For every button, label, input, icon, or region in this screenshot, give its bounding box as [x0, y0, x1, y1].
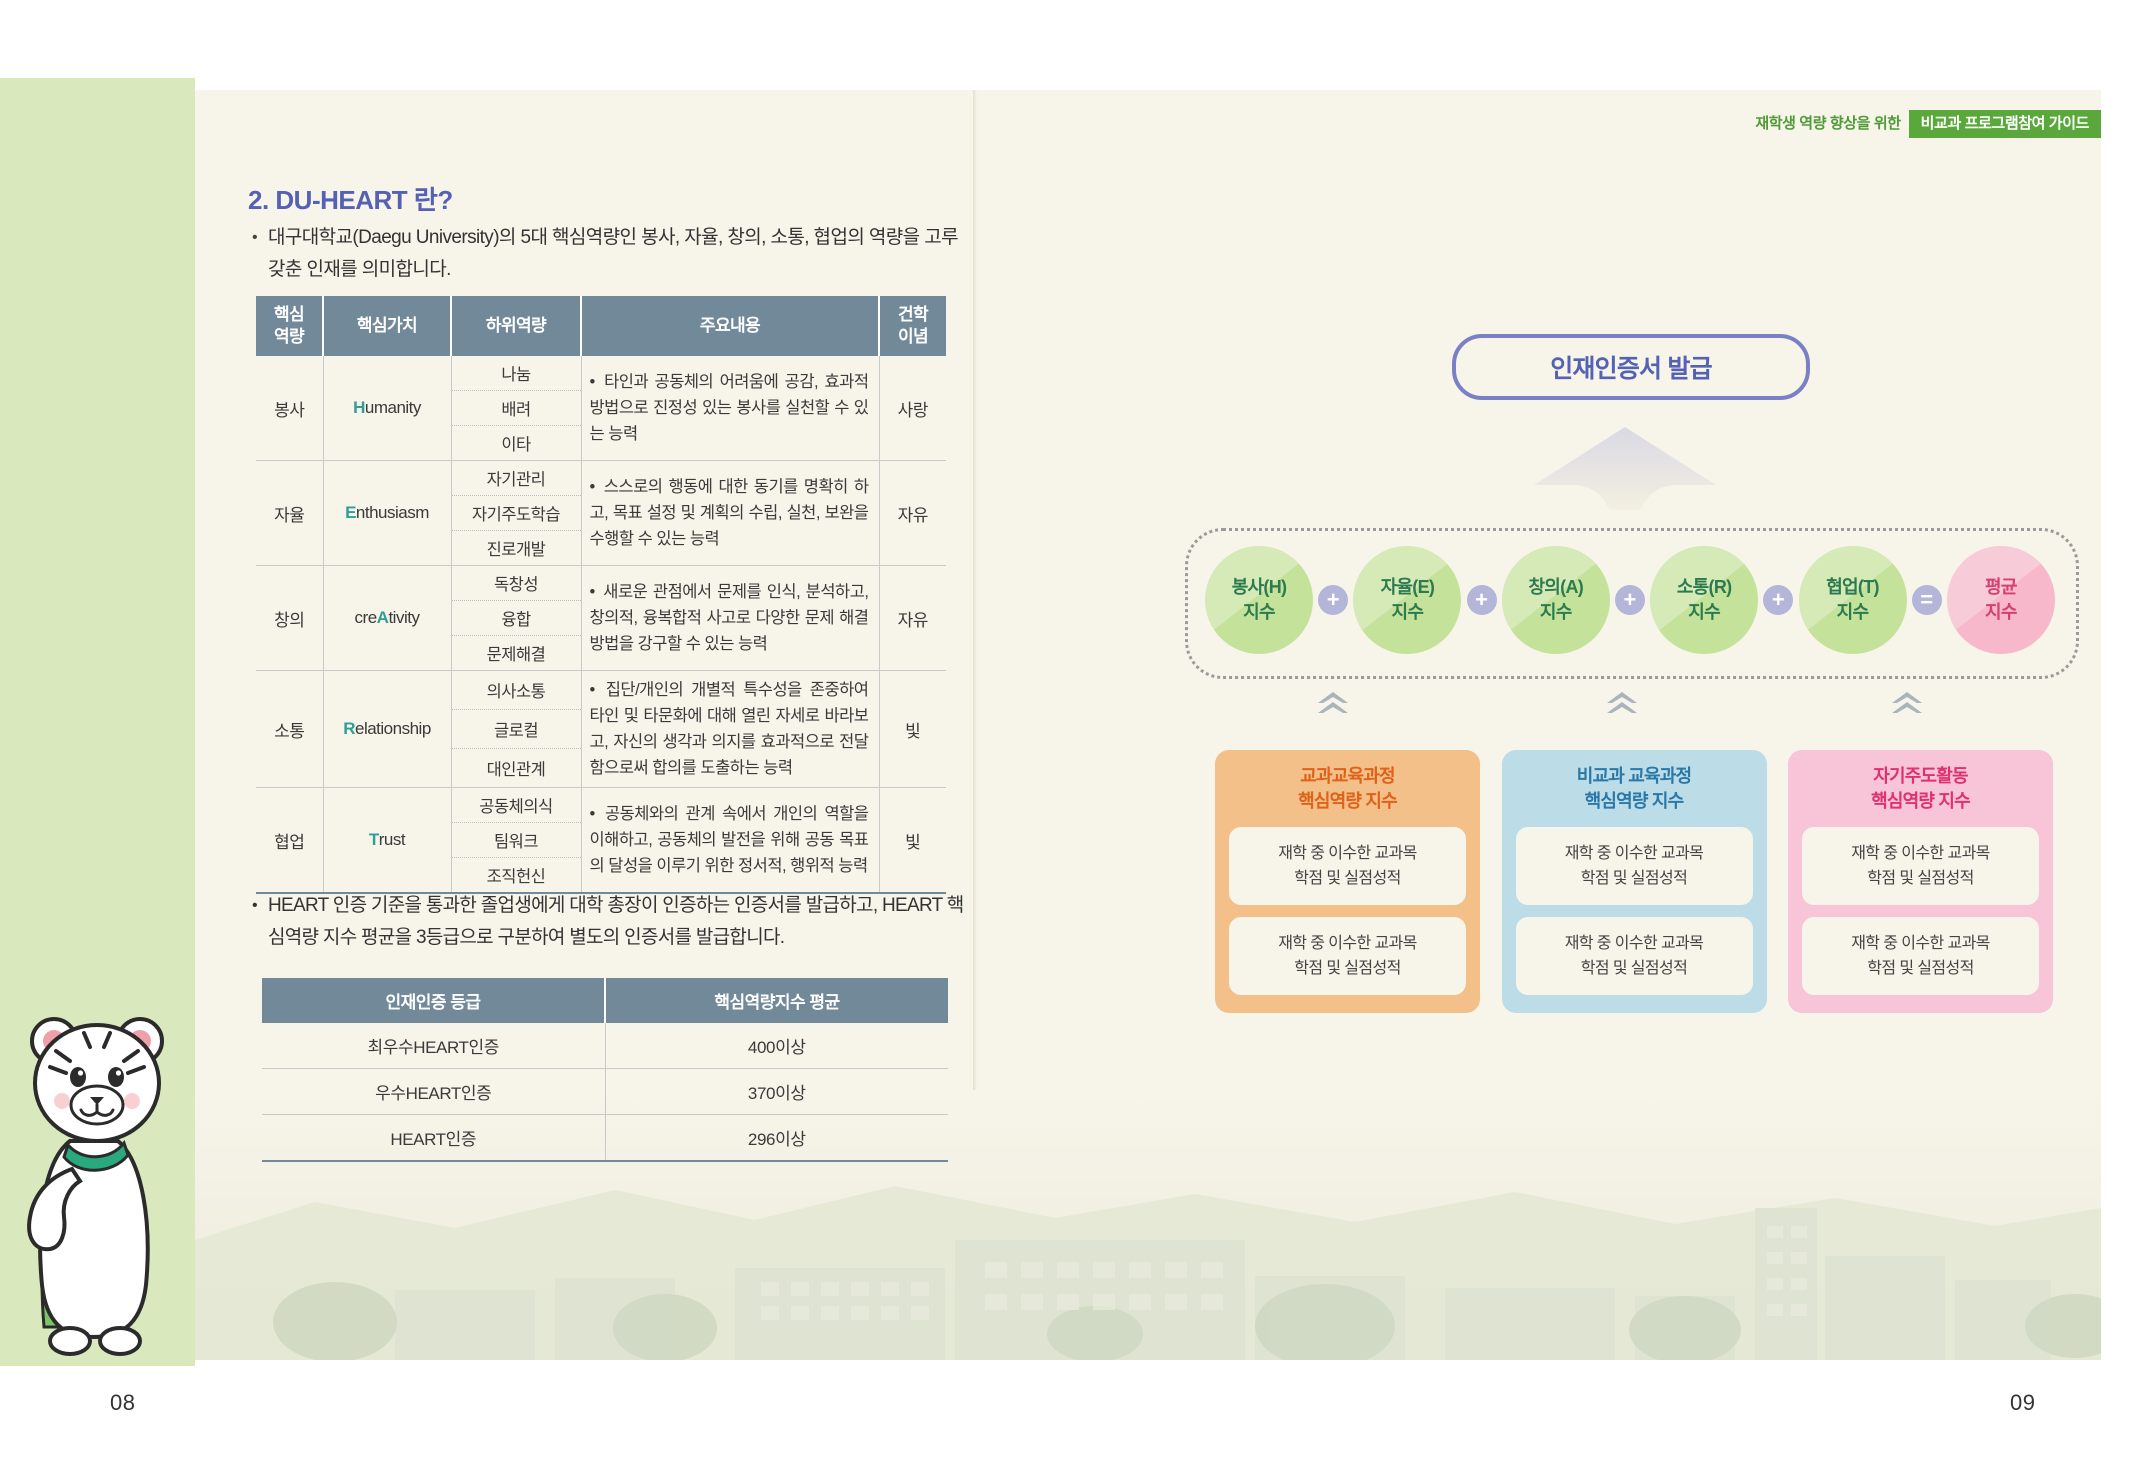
plus-icon: +	[1763, 585, 1793, 615]
intro-text: 대구대학교(Daegu University)의 5대 핵심역량인 봉사, 자율…	[268, 227, 958, 280]
cell-core-value: creAtivity	[323, 566, 451, 671]
competency-equation: 봉사(H)지수+자율(E)지수+창의(A)지수+소통(R)지수+협업(T)지수=…	[1195, 530, 2065, 670]
index-column-title: 비교과 교육과정핵심역량 지수	[1516, 764, 1753, 814]
bullet-icon: •	[252, 890, 257, 922]
table-row: 봉사Humanity나눔• 타인과 공동체의 어려움에 공감, 효과적 방법으로…	[256, 356, 946, 391]
index-circle: 봉사(H)지수	[1205, 546, 1313, 654]
cell-core-competency: 창의	[256, 566, 323, 671]
intro-paragraph: • 대구대학교(Daegu University)의 5대 핵심역량인 봉사, …	[268, 222, 968, 286]
bullet-icon: •	[252, 222, 257, 254]
cell-founding-ideal: 사랑	[879, 356, 946, 461]
cert-header-row: 인재인증 등급 핵심역량지수 평균	[262, 978, 948, 1023]
cell-description: • 공동체와의 관계 속에서 개인의 역할을 이해하고, 공동체의 발전을 위해…	[581, 788, 879, 894]
cell-sub-competency: 진로개발	[451, 531, 581, 566]
table-row: 최우수HEART인증400이상	[262, 1023, 948, 1069]
competency-table-body: 봉사Humanity나눔• 타인과 공동체의 어려움에 공감, 효과적 방법으로…	[256, 356, 946, 893]
cell-sub-competency: 공동체의식	[451, 788, 581, 823]
col-header-sub: 하위역량	[451, 296, 581, 356]
cell-cert-grade: 우수HEART인증	[262, 1069, 605, 1115]
index-circle-label: 자율(E)지수	[1381, 575, 1435, 625]
cell-description: • 새로운 관점에서 문제를 인식, 분석하고, 창의적, 융복합적 사고로 다…	[581, 566, 879, 671]
index-column: 비교과 교육과정핵심역량 지수재학 중 이수한 교과목학점 및 실점성적재학 중…	[1502, 750, 1767, 1013]
tiger-mascot	[10, 955, 215, 1365]
certification-table: 인재인증 등급 핵심역량지수 평균 최우수HEART인증400이상우수HEART…	[262, 978, 948, 1162]
index-item: 재학 중 이수한 교과목학점 및 실점성적	[1229, 827, 1466, 905]
chevron-up-icon	[1316, 690, 1350, 716]
header-banner: 재학생 역량 향상을 위한 비교과 프로그램참여 가이드	[1755, 110, 2101, 138]
index-circle-label: 협업(T)지수	[1826, 575, 1879, 625]
index-item: 재학 중 이수한 교과목학점 및 실점성적	[1516, 827, 1753, 905]
cell-sub-competency: 나눔	[451, 356, 581, 391]
brochure-spread: 재학생 역량 향상을 위한 비교과 프로그램참여 가이드 2. DU-HEART…	[0, 0, 2154, 1474]
cell-sub-competency: 조직헌신	[451, 858, 581, 894]
index-circle-label: 평균지수	[1985, 575, 2017, 625]
index-columns: 교과교육과정핵심역량 지수재학 중 이수한 교과목학점 및 실점성적재학 중 이…	[1215, 750, 2053, 1013]
cell-cert-grade: 최우수HEART인증	[262, 1023, 605, 1069]
index-circle: 자율(E)지수	[1353, 546, 1461, 654]
equals-icon: =	[1912, 585, 1942, 615]
cell-sub-competency: 팀워크	[451, 823, 581, 858]
cell-founding-ideal: 빛	[879, 788, 946, 894]
cell-core-value: Trust	[323, 788, 451, 894]
heart-note-text: HEART 인증 기준을 통과한 졸업생에게 대학 총장이 인증하는 인증서를 …	[268, 895, 964, 948]
cell-cert-score: 370이상	[605, 1069, 948, 1115]
plus-icon: +	[1615, 585, 1645, 615]
index-circle-label: 소통(R)지수	[1677, 575, 1732, 625]
index-item: 재학 중 이수한 교과목학점 및 실점성적	[1516, 917, 1753, 995]
cell-sub-competency: 대인관계	[451, 749, 581, 788]
table-row: HEART인증296이상	[262, 1115, 948, 1162]
cell-sub-competency: 의사소통	[451, 671, 581, 710]
cell-core-competency: 봉사	[256, 356, 323, 461]
cell-cert-grade: HEART인증	[262, 1115, 605, 1162]
cell-core-value: Humanity	[323, 356, 451, 461]
index-column: 자기주도활동핵심역량 지수재학 중 이수한 교과목학점 및 실점성적재학 중 이…	[1788, 750, 2053, 1013]
cell-sub-competency: 배려	[451, 391, 581, 426]
certification-table-body: 최우수HEART인증400이상우수HEART인증370이상HEART인증296이…	[262, 1023, 948, 1161]
index-circle-label: 창의(A)지수	[1528, 575, 1583, 625]
cert-issue-label: 인재인증서 발급	[1550, 349, 1712, 385]
table-row: 협업Trust공동체의식• 공동체와의 관계 속에서 개인의 역할을 이해하고,…	[256, 788, 946, 823]
cell-description: • 스스로의 행동에 대한 동기를 명확히 하고, 목표 설정 및 계획의 수립…	[581, 461, 879, 566]
index-circle: 평균지수	[1947, 546, 2055, 654]
cell-founding-ideal: 자유	[879, 461, 946, 566]
cert-issue-pill: 인재인증서 발급	[1452, 334, 1810, 400]
heart-note: • HEART 인증 기준을 통과한 졸업생에게 대학 총장이 인증하는 인증서…	[268, 890, 968, 954]
cell-cert-score: 296이상	[605, 1115, 948, 1162]
index-column-title: 교과교육과정핵심역량 지수	[1229, 764, 1466, 814]
cell-description: • 타인과 공동체의 어려움에 공감, 효과적 방법으로 진정성 있는 봉사를 …	[581, 356, 879, 461]
cell-sub-competency: 문제해결	[451, 636, 581, 671]
page-number-right: 09	[2010, 1390, 2035, 1416]
cell-core-value: Relationship	[323, 671, 451, 788]
index-circle: 소통(R)지수	[1650, 546, 1758, 654]
chevron-up-icon	[1890, 690, 1924, 716]
cell-sub-competency: 독창성	[451, 566, 581, 601]
cell-core-competency: 협업	[256, 788, 323, 894]
cell-founding-ideal: 자유	[879, 566, 946, 671]
section-title: 2. DU-HEART 란?	[248, 180, 453, 217]
index-circle: 창의(A)지수	[1502, 546, 1610, 654]
index-circle-label: 봉사(H)지수	[1232, 575, 1287, 625]
banner-tag: 비교과 프로그램참여 가이드	[1909, 110, 2101, 138]
up-arrow-icon	[1530, 425, 1720, 510]
competency-table: 핵심 역량 핵심가치 하위역량 주요내용 건학 이념 봉사Humanity나눔•…	[256, 296, 946, 894]
cell-sub-competency: 글로컬	[451, 710, 581, 749]
table-row: 우수HEART인증370이상	[262, 1069, 948, 1115]
index-circle: 협업(T)지수	[1799, 546, 1907, 654]
chevron-up-icon	[1605, 690, 1639, 716]
index-item: 재학 중 이수한 교과목학점 및 실점성적	[1802, 917, 2039, 995]
cell-sub-competency: 이타	[451, 426, 581, 461]
banner-prefix: 재학생 역량 향상을 위한	[1755, 110, 1908, 138]
cell-sub-competency: 융합	[451, 601, 581, 636]
cell-core-value: Enthusiasm	[323, 461, 451, 566]
cert-col-grade: 인재인증 등급	[262, 978, 605, 1023]
page-number-left: 08	[110, 1390, 135, 1416]
cell-cert-score: 400이상	[605, 1023, 948, 1069]
cell-sub-competency: 자기관리	[451, 461, 581, 496]
index-column-title: 자기주도활동핵심역량 지수	[1802, 764, 2039, 814]
index-item: 재학 중 이수한 교과목학점 및 실점성적	[1229, 917, 1466, 995]
index-column: 교과교육과정핵심역량 지수재학 중 이수한 교과목학점 및 실점성적재학 중 이…	[1215, 750, 1480, 1013]
cell-founding-ideal: 빛	[879, 671, 946, 788]
col-header-idea: 건학 이념	[879, 296, 946, 356]
table-row: 창의creAtivity독창성• 새로운 관점에서 문제를 인식, 분석하고, …	[256, 566, 946, 601]
cell-description: • 집단/개인의 개별적 특수성을 존중하여 타인 및 타문화에 대해 열린 자…	[581, 671, 879, 788]
plus-icon: +	[1318, 585, 1348, 615]
plus-icon: +	[1467, 585, 1497, 615]
col-header-value: 핵심가치	[323, 296, 451, 356]
col-header-core: 핵심 역량	[256, 296, 323, 356]
table-row: 소통Relationship의사소통• 집단/개인의 개별적 특수성을 존중하여…	[256, 671, 946, 710]
table-header-row: 핵심 역량 핵심가치 하위역량 주요내용 건학 이념	[256, 296, 946, 356]
cert-col-score: 핵심역량지수 평균	[605, 978, 948, 1023]
cell-core-competency: 자율	[256, 461, 323, 566]
col-header-desc: 주요내용	[581, 296, 879, 356]
index-item: 재학 중 이수한 교과목학점 및 실점성적	[1802, 827, 2039, 905]
cell-core-competency: 소통	[256, 671, 323, 788]
cell-sub-competency: 자기주도학습	[451, 496, 581, 531]
table-row: 자율Enthusiasm자기관리• 스스로의 행동에 대한 동기를 명확히 하고…	[256, 461, 946, 496]
